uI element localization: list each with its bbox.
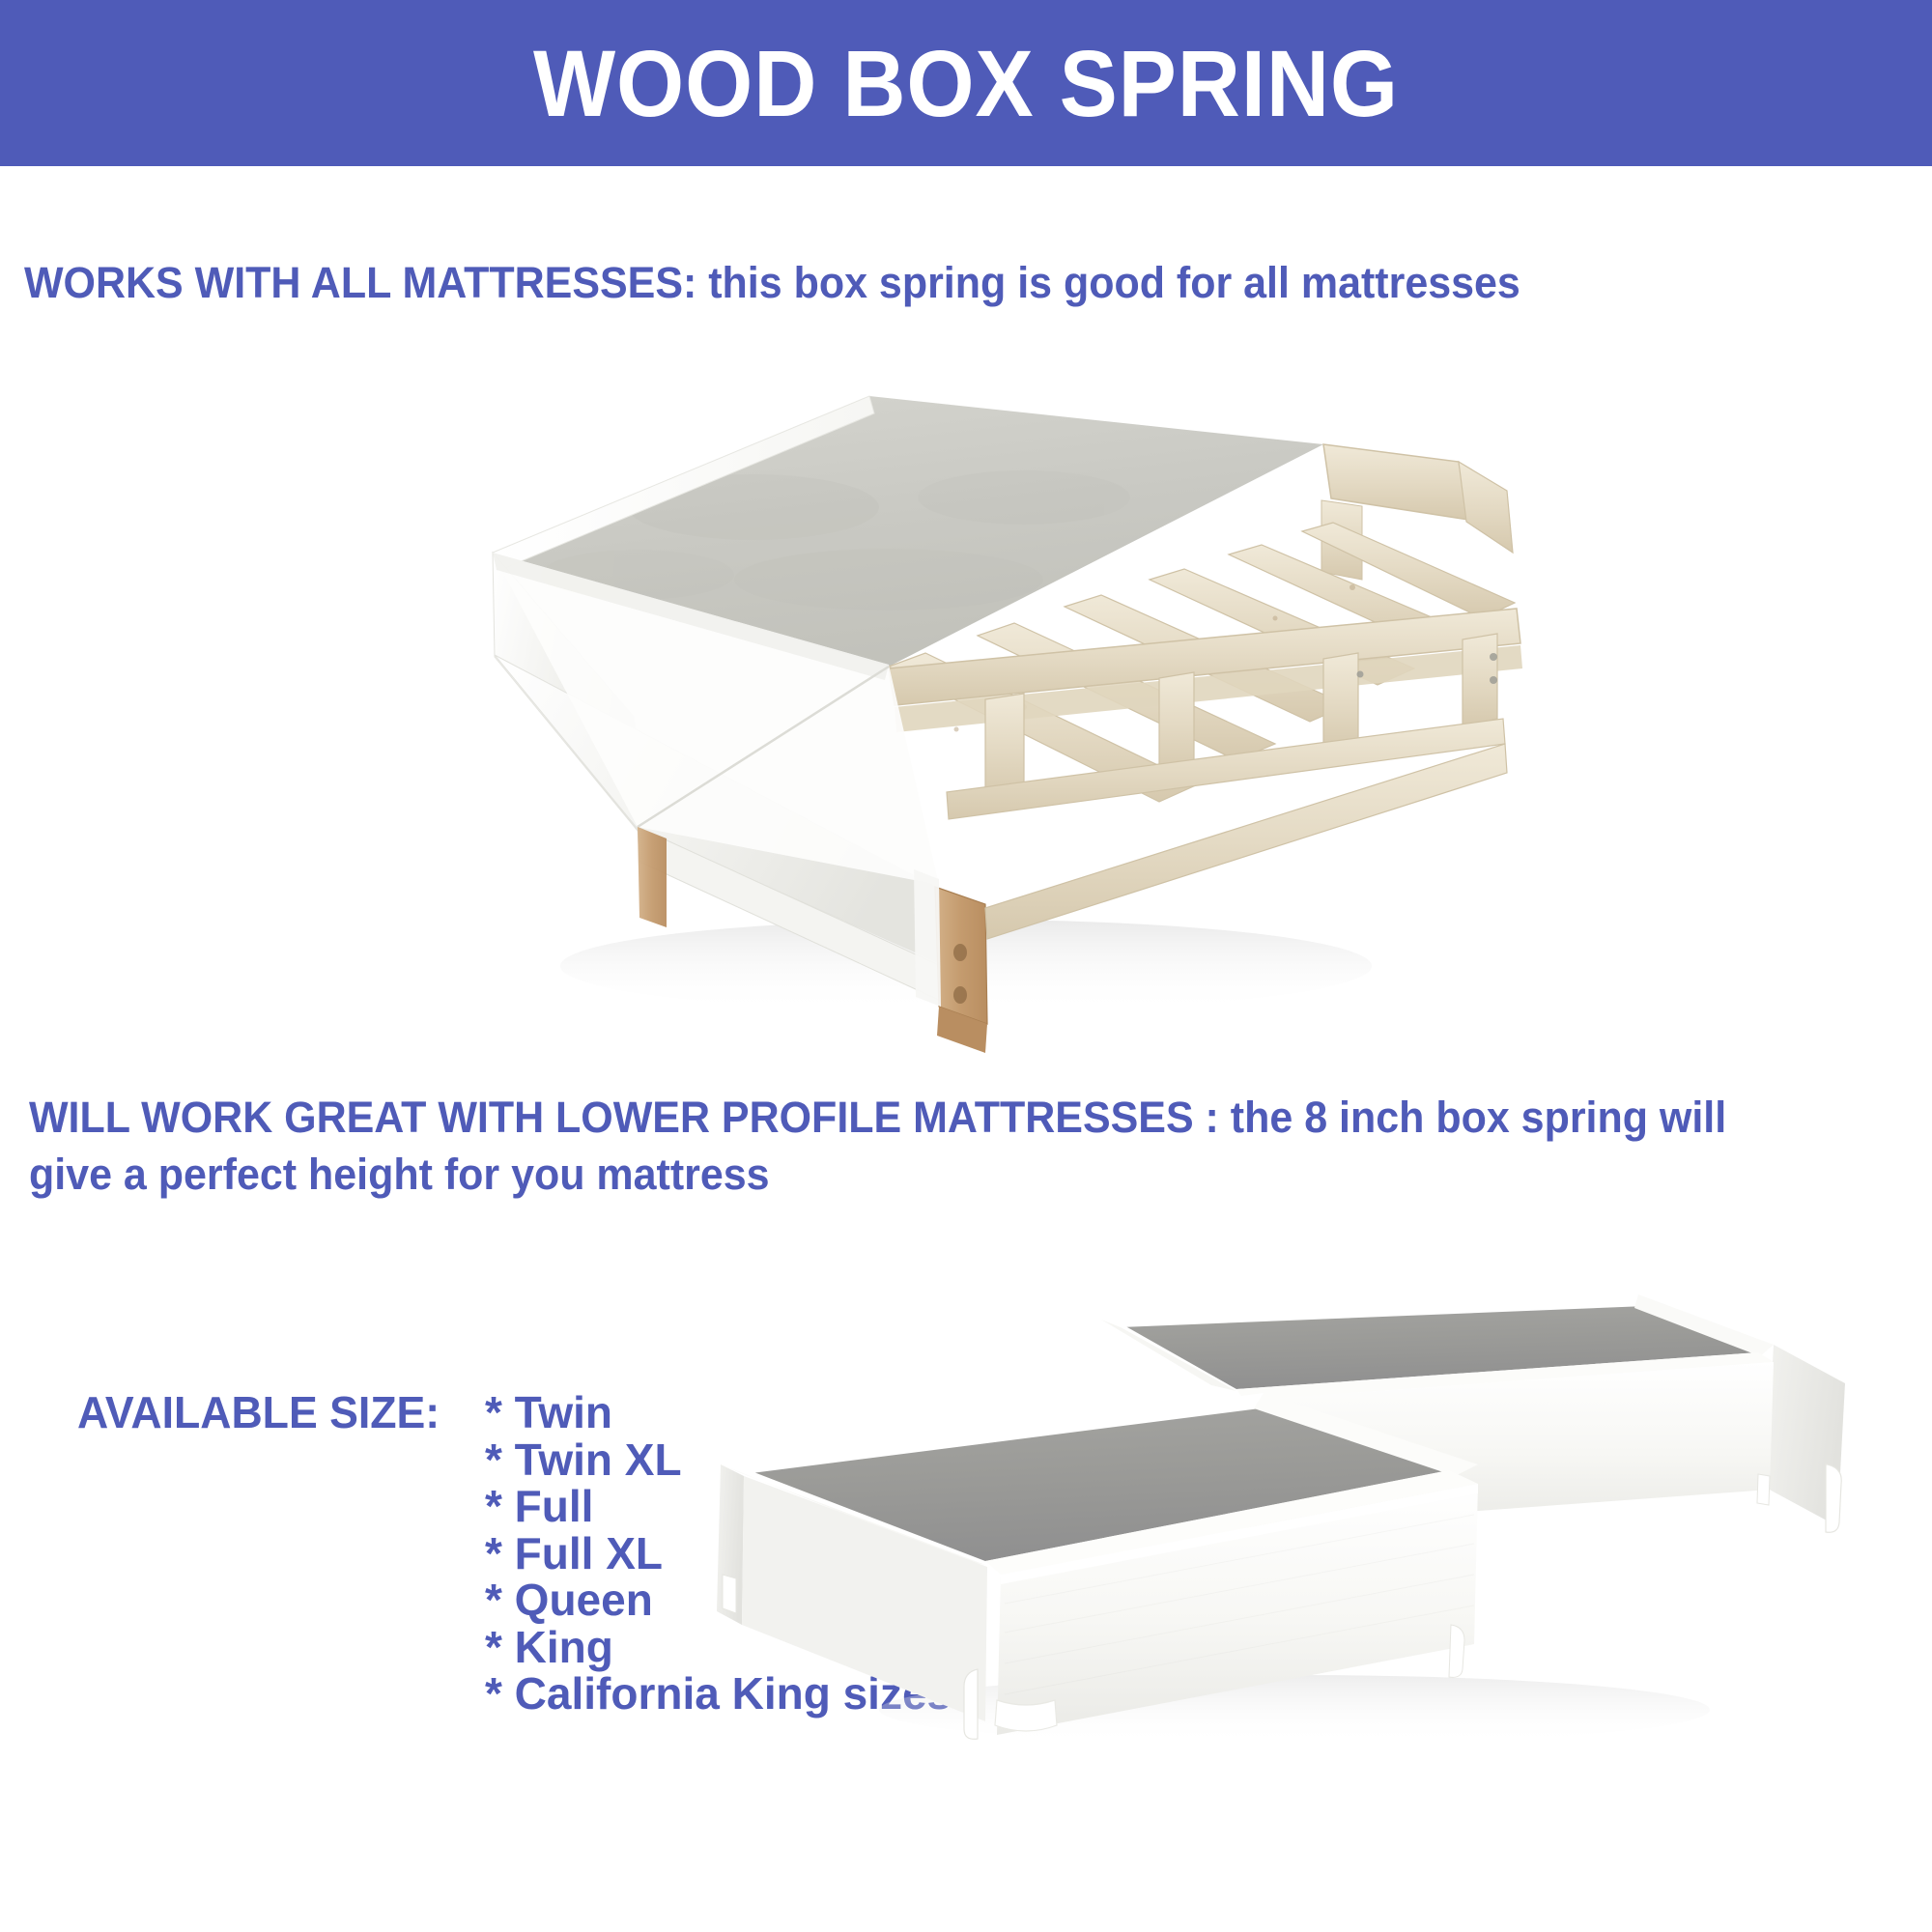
size-option-king: * King bbox=[485, 1624, 613, 1671]
available-sizes-label: AVAILABLE SIZE: bbox=[77, 1389, 472, 1436]
header-banner: WOOD BOX SPRING bbox=[0, 0, 1932, 166]
size-option-twin: * Twin bbox=[485, 1389, 612, 1436]
feature-lower-profile-mattresses: WILL WORK GREAT WITH LOWER PROFILE MATTR… bbox=[29, 1090, 1745, 1203]
wood-box-spring-frame-photo bbox=[348, 290, 1536, 1092]
split-box-spring-pair-photo bbox=[618, 1285, 1932, 1768]
page-title: WOOD BOX SPRING bbox=[68, 0, 1864, 166]
size-option-full: * Full bbox=[485, 1483, 593, 1530]
